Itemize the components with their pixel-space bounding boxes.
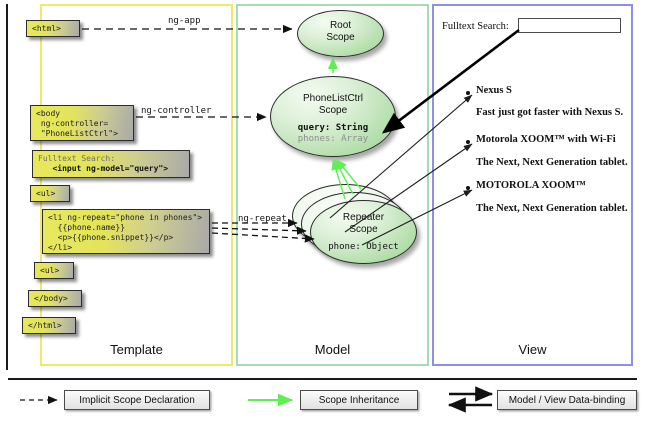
repeater-title-line1: Repeater	[311, 201, 416, 224]
code-box-html-close: </html>	[22, 317, 76, 334]
edge-label-ng-app: ng-app	[168, 16, 201, 26]
phonelistctrl-title-line2: Scope	[271, 105, 395, 117]
view-phone-name-2: MOTOROLA XOOM™	[476, 180, 586, 191]
panel-title-template: Template	[42, 342, 231, 357]
view-bullet-1	[466, 140, 470, 144]
phonelistctrl-prop-phones: phones: Array	[271, 134, 395, 145]
code-box-html-open: <html>	[26, 20, 80, 37]
view-phone-name-1: Motorola XOOM™ with Wi-Fi	[476, 134, 616, 145]
repeater-prop-phone: phone: Object	[311, 242, 416, 253]
ellipse-repeater-scope: Repeater Scope phone: Object	[310, 200, 417, 264]
legend-item-scope-inheritance: Scope Inheritance	[300, 390, 418, 410]
legend-item-implicit-scope-declaration: Implicit Scope Declaration	[64, 390, 210, 410]
code-box-fulltext-search: Fulltext Search: <input ng-model="query"…	[32, 150, 190, 178]
phonelistctrl-prop-query: query: String	[271, 123, 395, 134]
code-box-ul-open: <ul>	[30, 185, 70, 202]
ellipse-root-scope: Root Scope	[297, 10, 384, 57]
phonelistctrl-title-line1: PhoneListCtrl	[271, 77, 395, 105]
code-box-body-open: <body ng-controller= "PhoneListCtrl">	[30, 105, 134, 141]
view-search-label: Fulltext Search:	[442, 21, 509, 32]
view-bullet-0	[466, 91, 470, 95]
view-bullet-2	[466, 186, 470, 190]
view-phone-snippet-2: The Next, Next Generation tablet.	[476, 203, 628, 214]
legend-label-databinding: Model / View Data-binding	[509, 395, 626, 406]
panel-title-model: Model	[238, 342, 427, 357]
ellipse-phonelistctrl-scope: PhoneListCtrl Scope query: String phones…	[270, 76, 396, 157]
edge-label-ng-controller: ng-controller	[141, 106, 211, 116]
root-scope-title-line2: Scope	[298, 32, 383, 44]
frame-left-rule	[6, 4, 8, 370]
code-box-li-ng-repeat: <li ng-repeat="phone in phones"> {{phone…	[42, 209, 210, 254]
root-scope-title-line1: Root	[298, 11, 383, 32]
code-box-ul-close: <ul>	[34, 262, 74, 279]
diagram-canvas: Template <html> <body ng-controller= "Ph…	[0, 0, 645, 425]
legend-label-inheritance: Scope Inheritance	[319, 395, 400, 406]
edge-label-ng-repeat: ng-repeat	[238, 214, 287, 224]
repeater-title-line2: Scope	[311, 224, 416, 236]
legend-item-model-view-data-binding: Model / View Data-binding	[497, 390, 637, 410]
view-phone-snippet-0: Fast just got faster with Nexus S.	[476, 107, 623, 118]
legend-label-implicit: Implicit Scope Declaration	[79, 395, 195, 406]
view-phone-name-0: Nexus S	[476, 85, 512, 96]
view-phone-snippet-1: The Next, Next Generation tablet.	[476, 157, 628, 168]
legend-top-rule	[8, 378, 637, 380]
code-box-body-close: </body>	[28, 290, 82, 307]
panel-title-view: View	[434, 342, 631, 357]
view-search-input[interactable]	[518, 18, 621, 33]
